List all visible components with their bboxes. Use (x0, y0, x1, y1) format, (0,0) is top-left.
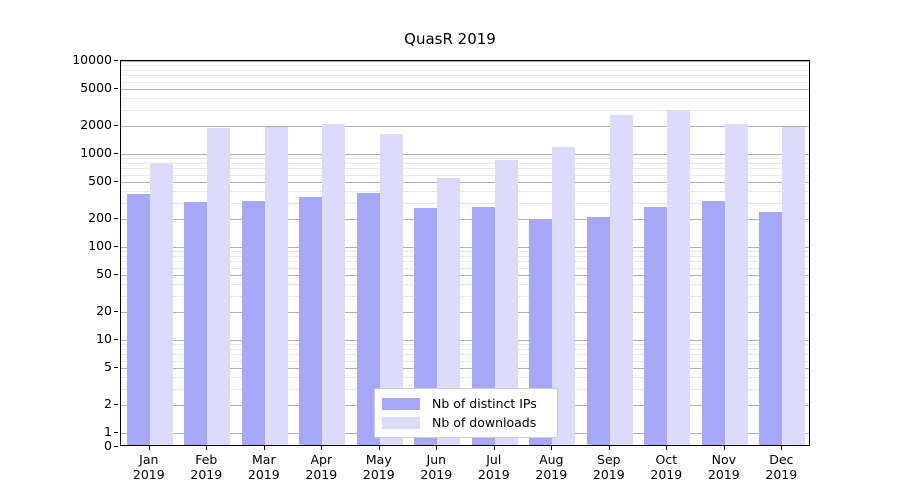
y-axis-tick-label: 50 (96, 268, 112, 280)
y-axis-tick-label: 2000 (80, 119, 112, 131)
y-axis-tick-mark (114, 125, 118, 126)
bar-downloads (150, 163, 173, 445)
legend-item-distinct-ips: Nb of distinct IPs (382, 394, 550, 413)
y-axis-tick-mark (114, 432, 118, 433)
bar-distinct-ips (587, 217, 610, 445)
bar-downloads (610, 115, 633, 445)
gridline-minor (121, 75, 809, 76)
x-axis-tick-mark (206, 446, 207, 450)
y-axis-tick-label: 10000 (72, 54, 112, 66)
bar-distinct-ips (702, 201, 725, 445)
x-axis-tick-mark (494, 446, 495, 450)
y-axis-tick-label: 10 (96, 333, 112, 345)
x-axis-tick-mark (551, 446, 552, 450)
x-axis-tick-mark (609, 446, 610, 450)
y-axis-tick-mark (114, 367, 118, 368)
x-axis-tick-mark (666, 446, 667, 450)
y-axis-tick-mark (114, 153, 118, 154)
gridline-minor (121, 65, 809, 66)
y-axis-tick-label: 1000 (80, 147, 112, 159)
y-axis-tick-label: 2 (104, 398, 112, 410)
y-axis-tick-mark (114, 246, 118, 247)
x-axis-tick-mark (436, 446, 437, 450)
x-axis-tick-mark (724, 446, 725, 450)
y-axis-tick-labels: 012510205010020050010002000500010000 (0, 0, 112, 500)
x-axis-tick-mark (781, 446, 782, 450)
y-axis-tick-mark (114, 60, 118, 61)
y-axis-tick-mark (114, 311, 118, 312)
legend-label-downloads: Nb of downloads (432, 415, 536, 430)
y-axis-tick-mark (114, 218, 118, 219)
y-axis-tick-label: 1 (104, 426, 112, 438)
x-axis-tick-mark (264, 446, 265, 450)
x-axis-tick-mark (321, 446, 322, 450)
y-axis-tick-mark (114, 88, 118, 89)
legend-label-distinct-ips: Nb of distinct IPs (432, 396, 537, 411)
bar-downloads (207, 128, 230, 445)
x-axis-tick-mark (149, 446, 150, 450)
y-axis-tick-label: 200 (88, 212, 112, 224)
x-axis-tick-label: Dec 2019 (741, 452, 821, 482)
bar-distinct-ips (184, 202, 207, 445)
gridline-minor (121, 110, 809, 111)
x-axis-tick-mark (379, 446, 380, 450)
gridline-major (121, 61, 809, 62)
gridline-minor (121, 70, 809, 71)
bar-distinct-ips (299, 197, 322, 445)
gridline-major (121, 89, 809, 90)
bar-downloads (725, 124, 748, 445)
chart-legend: Nb of distinct IPs Nb of downloads (374, 388, 558, 438)
legend-item-downloads: Nb of downloads (382, 413, 550, 432)
bar-distinct-ips (242, 201, 265, 445)
bar-downloads (265, 127, 288, 445)
chart-title: QuasR 2019 (0, 30, 900, 48)
y-axis-tick-label: 5000 (80, 82, 112, 94)
gridline-minor (121, 82, 809, 83)
legend-swatch-downloads (382, 417, 420, 429)
bar-downloads (322, 124, 345, 445)
y-axis-tick-mark (114, 404, 118, 405)
gridline-minor (121, 98, 809, 99)
bar-distinct-ips (759, 212, 782, 445)
y-axis-tick-label: 20 (96, 305, 112, 317)
y-axis-tick-label: 0 (104, 440, 112, 452)
chart-figure: QuasR 2019 01251020501002005001000200050… (0, 0, 900, 500)
bar-downloads (782, 127, 805, 446)
y-axis-tick-mark (114, 446, 118, 447)
legend-swatch-distinct-ips (382, 398, 420, 410)
y-axis-tick-label: 5 (104, 361, 112, 373)
y-axis-tick-mark (114, 181, 118, 182)
y-axis-tick-mark (114, 274, 118, 275)
y-axis-tick-mark (114, 339, 118, 340)
y-axis-tick-label: 100 (88, 240, 112, 252)
y-axis-tick-label: 500 (88, 175, 112, 187)
gridline-major (121, 126, 809, 127)
bar-downloads (667, 110, 690, 445)
bar-distinct-ips (644, 207, 667, 445)
bar-distinct-ips (127, 194, 150, 445)
